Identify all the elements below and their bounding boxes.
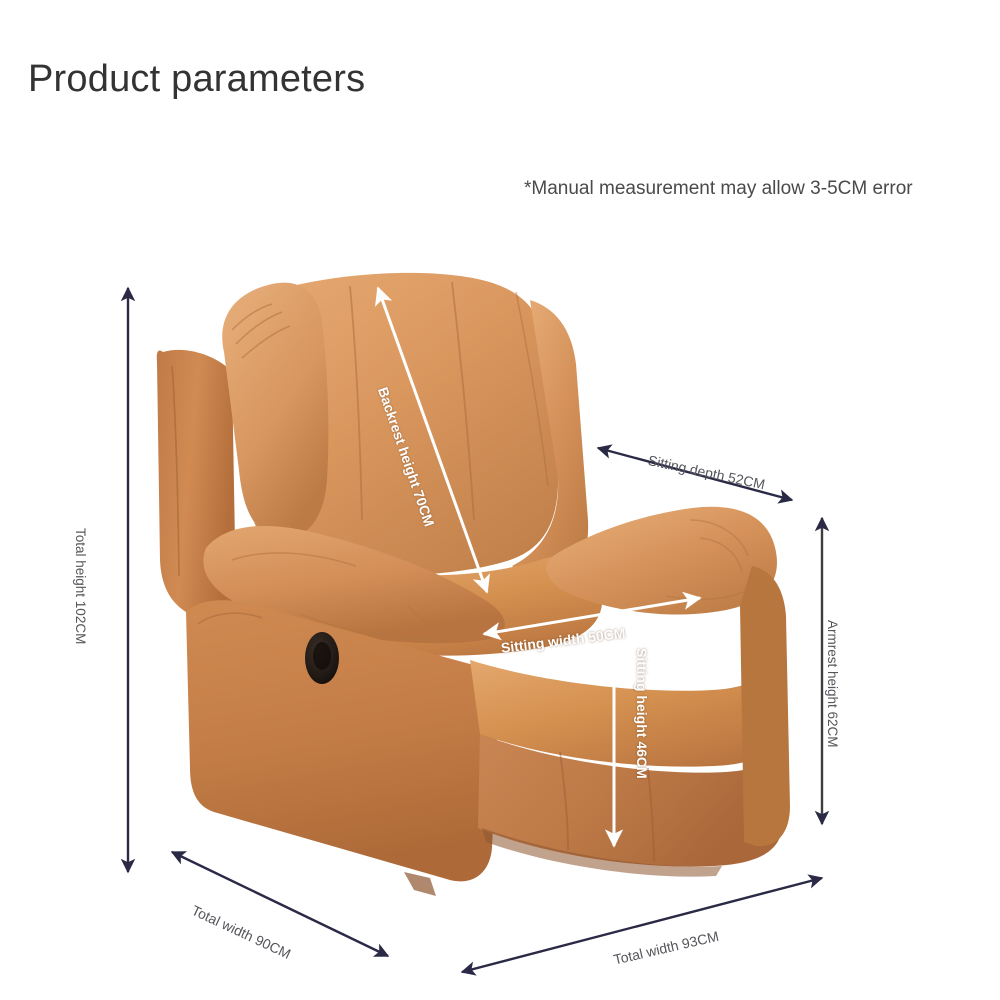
recliner-diagram <box>0 0 1000 1000</box>
dimension-label-armrest-height: Armrest height 62CM <box>825 620 840 748</box>
recliner-illustration <box>157 273 790 896</box>
recline-lever-inner <box>313 642 331 670</box>
chair-head-pillow <box>222 283 328 539</box>
dimension-label-sitting-height: Sitting height 46CM <box>634 648 650 779</box>
chair-foot-left <box>404 872 436 896</box>
dimension-label-total-height: Total height 102CM <box>73 528 88 644</box>
product-parameters-page: Product parameters *Manual measurement m… <box>0 0 1000 1000</box>
chair-right-side-panel <box>740 566 790 846</box>
